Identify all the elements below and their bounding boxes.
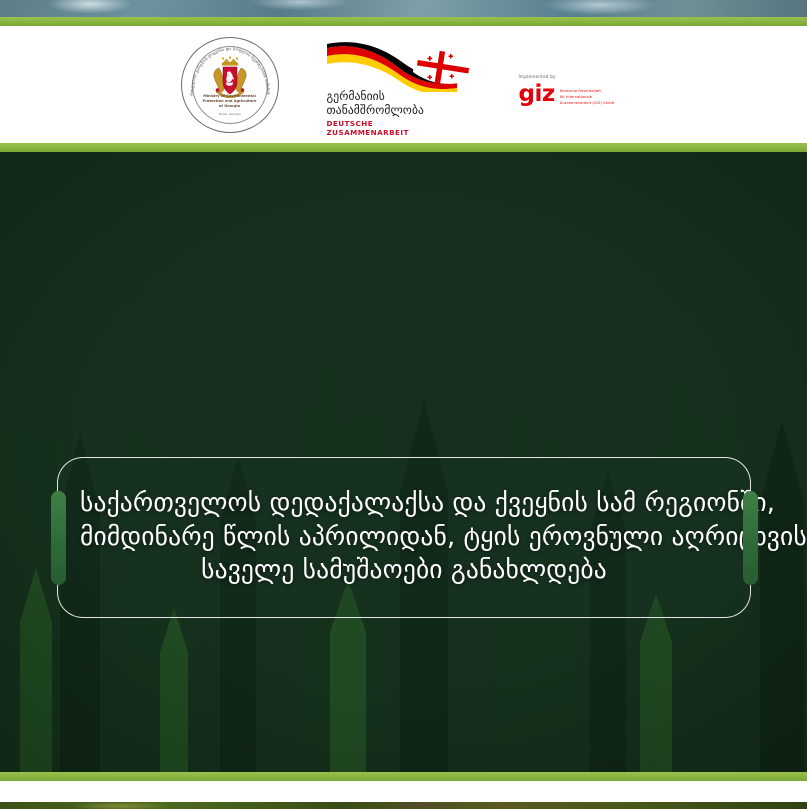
coop-label-ka-line2: თანამშრომლობა [327,103,455,117]
ministry-seal-icon: საქართველოს გარემოს დაცვისა და სოფლის მე… [181,37,279,133]
giz-implemented-by-label: Implemented by [519,74,627,79]
header-green-divider [0,143,807,152]
seal-caption-sub: Tbilisi, Georgia [194,112,266,116]
accent-pill-right [743,491,758,585]
announcement-title: საქართველოს დედაქალაქსა და ქვეყნის სამ რ… [80,487,728,589]
title-line-2: მიმდინარე წლის აპრილიდან, ტყის ეროვნული … [80,521,728,555]
hero-section: საქართველოს დედაქალაქსა და ქვეყნის სამ რ… [0,152,807,772]
announcement-page: საქართველოს გარემოს დაცვისა და სოფლის მე… [0,0,807,809]
accent-pill-left [51,491,66,585]
logo-header: საქართველოს გარემოს დაცვისა და სოფლის მე… [0,26,807,143]
seal-caption: Ministry of Environmental Protection and… [194,94,266,117]
title-line-1: საქართველოს დედაქალაქსა და ქვეყნის სამ რ… [80,487,728,521]
bottom-green-divider [0,772,807,781]
giz-legal-name: Deutsche Gesellschaft für Internationale… [560,84,615,106]
german-georgian-flag-icon [325,42,473,92]
seal-caption-line3: of Georgia [219,104,240,108]
georgia-coat-of-arms-icon [203,56,257,98]
coop-label-ka-line1: გერმანიის [327,89,455,103]
giz-logo: Implemented by giz Deutsche Gesellschaft… [519,74,627,132]
bottom-photo-strip [0,802,807,809]
german-cooperation-text: გერმანიის თანამშრომლობა DEUTSCHE ZUSAMME… [327,89,455,137]
german-cooperation-logo: გერმანიის თანამშრომლობა DEUTSCHE ZUSAMME… [325,42,473,128]
title-line-3: საველე სამუშაოები განახლდება [80,554,728,588]
giz-legal-line3: Zusammenarbeit (GIZ) GmbH [560,101,615,107]
top-photo-strip [0,0,807,17]
coop-label-de: DEUTSCHE ZUSAMMENARBEIT [327,119,455,137]
seal-caption-line1: Ministry of Environmental [203,94,256,98]
giz-wordmark: giz [519,84,555,104]
bottom-white-band [0,781,807,802]
giz-lockup: giz Deutsche Gesellschaft für Internatio… [519,84,627,106]
seal-caption-line2: Protection and Agriculture [203,99,257,103]
top-green-divider [0,17,807,26]
announcement-title-card: საქართველოს დედაქალაქსა და ქვეყნის სამ რ… [57,457,751,618]
